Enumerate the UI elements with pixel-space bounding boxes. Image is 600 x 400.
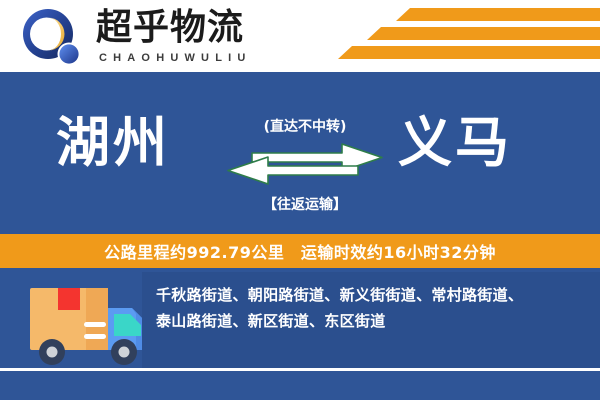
route-row: 湖州 (直达不中转) 【往返运输】 义马 [0,72,600,234]
route-info-bar: 公路里程约992.79公里 运输时效约16小时32分钟 [0,234,600,268]
direct-route-note: (直达不中转) [222,116,388,136]
street-list-line-2: 泰山路街道、新区街道、东区街道 [156,308,588,334]
stripe-2 [367,27,600,40]
origin-city: 湖州 [56,112,170,174]
roundtrip-note: 【往返运输】 [222,194,388,214]
ground-line [0,368,600,371]
bidirectional-arrow-icon [224,142,386,186]
header-stripes-decoration [338,8,600,64]
circle-crescent-logo-icon [22,8,84,68]
brand-name-cn: 超乎物流 [96,8,244,48]
banner-body: 湖州 (直达不中转) 【往返运输】 义马 公路里程约992.79公里 运输时效约… [0,72,600,400]
stripe-1 [396,8,600,21]
brand-logo: 超乎物流 CHAOHUWULIU [22,6,282,68]
brand-name-en: CHAOHUWULIU [99,52,252,64]
route-info-text: 公路里程约992.79公里 运输时效约16小时32分钟 [104,239,496,263]
route-middle: (直达不中转) 【往返运输】 [222,110,388,220]
street-list-panel: 千秋路街道、朝阳路街道、新义街街道、常村路街道、 泰山路街道、新区街道、东区街道 [142,272,600,368]
logistics-route-banner: 超乎物流 CHAOHUWULIU 湖州 (直达不中转) 【往返运输】 [0,0,600,400]
stripe-3 [338,46,600,59]
street-list: 千秋路街道、朝阳路街道、新义街街道、常村路街道、 泰山路街道、新区街道、东区街道 [156,282,588,334]
street-list-line-1: 千秋路街道、朝阳路街道、新义街街道、常村路街道、 [156,282,588,308]
destination-city: 义马 [398,112,512,174]
delivery-truck-icon [28,274,160,378]
banner-header: 超乎物流 CHAOHUWULIU [0,0,600,72]
coverage-section: 千秋路街道、朝阳路街道、新义街街道、常村路街道、 泰山路街道、新区街道、东区街道 [0,268,600,400]
